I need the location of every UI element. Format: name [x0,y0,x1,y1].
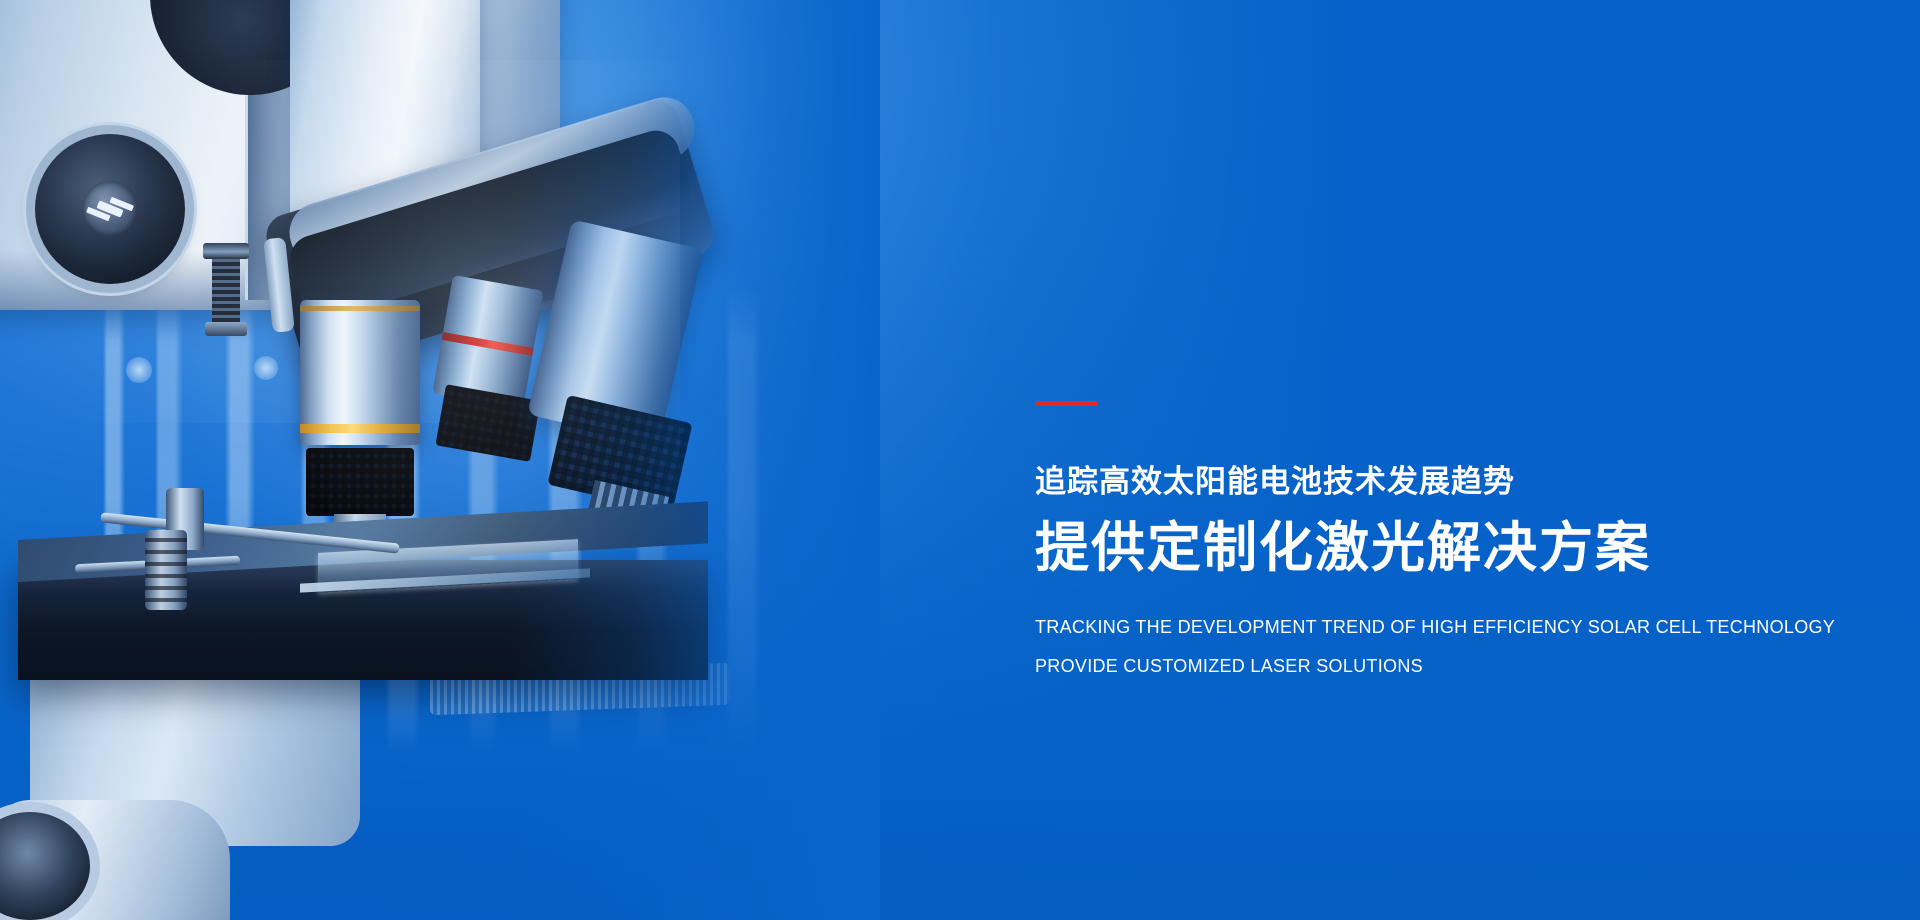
hero-banner: 追踪高效太阳能电池技术发展趋势 提供定制化激光解决方案 TRACKING THE… [0,0,1920,920]
adjustment-screw [212,255,240,327]
yellow-band [300,424,420,433]
yellow-band-top [300,306,420,311]
objective-lens-yellow-knurl [306,448,414,516]
hero-headline: 提供定制化激光解决方案 [1035,515,1651,581]
bokeh-highlight [254,356,278,380]
bokeh-highlight [126,357,152,383]
hero-english-line-2: PROVIDE CUSTOMIZED LASER SOLUTIONS [1035,651,1835,681]
stage-clip-post [145,530,187,610]
red-band [442,332,534,356]
hero-subtitle: 追踪高效太阳能电池技术发展趋势 [1035,462,1515,502]
accent-rule [1035,401,1097,406]
hero-content: 追踪高效太阳能电池技术发展趋势 提供定制化激光解决方案 TRACKING THE… [1035,0,1815,920]
hero-english-lines: TRACKING THE DEVELOPMENT TREND OF HIGH E… [1035,612,1835,681]
hero-english-line-1: TRACKING THE DEVELOPMENT TREND OF HIGH E… [1035,612,1835,642]
objective-lens-yellow-band [300,300,420,445]
adjustment-screw-head [203,243,249,259]
adjustment-screw-foot [205,322,247,336]
focus-knob [35,134,185,284]
